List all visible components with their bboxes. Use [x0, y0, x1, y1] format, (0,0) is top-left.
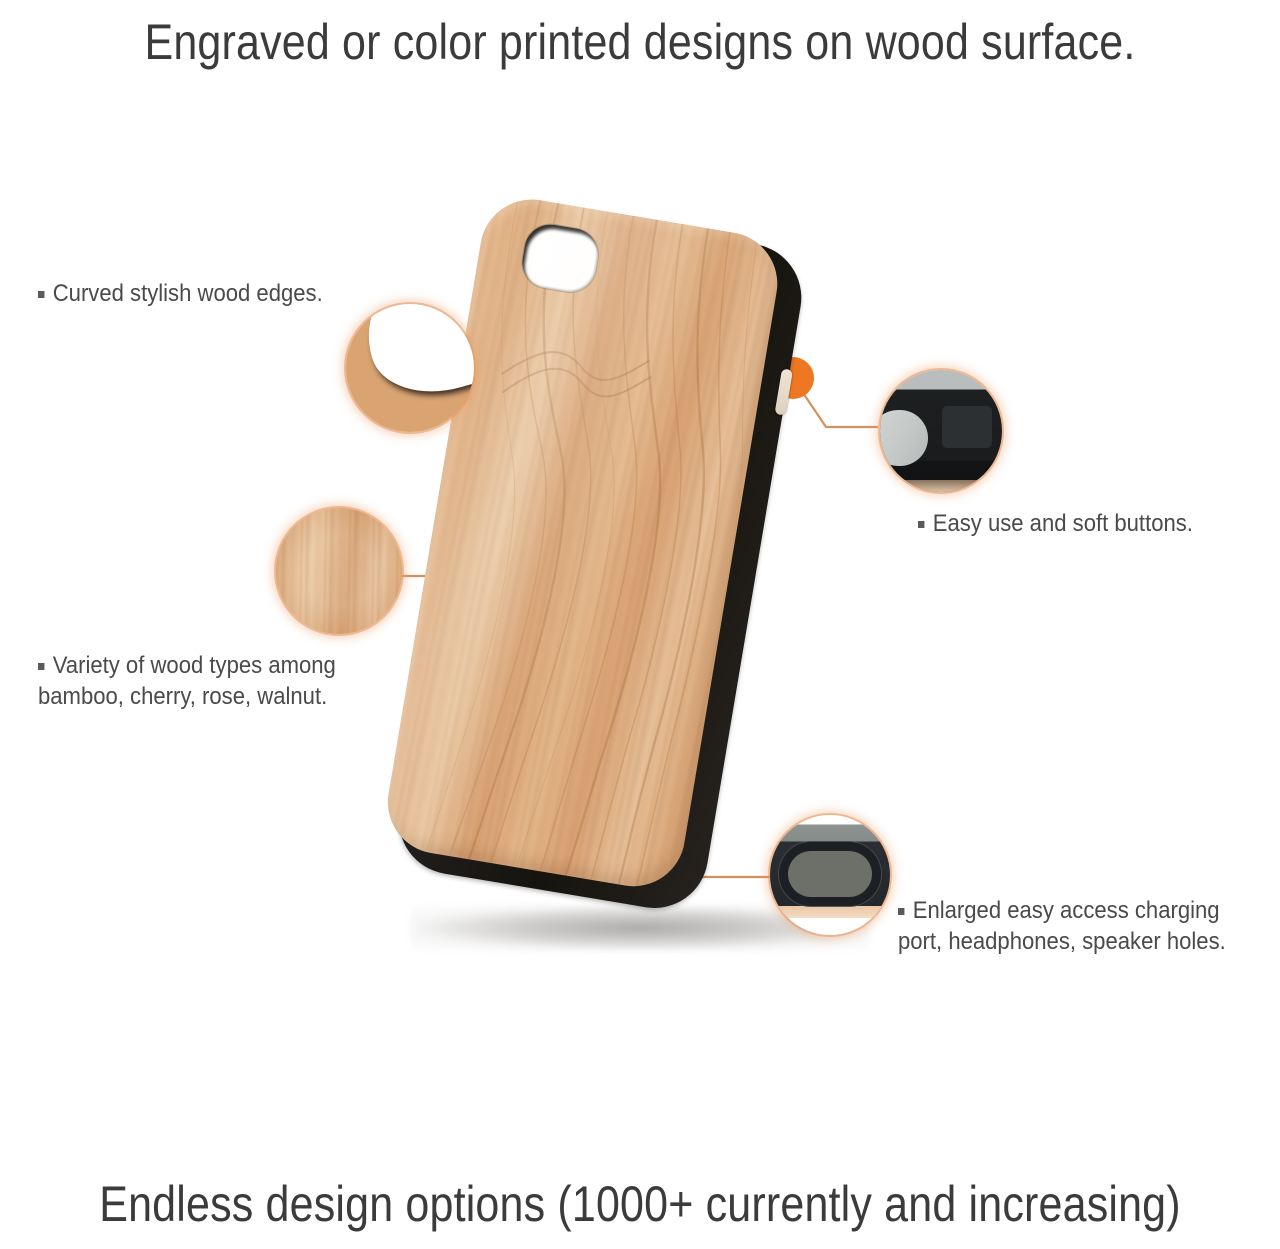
side-button-notch: [775, 368, 793, 415]
callout-label-curved-edges: Curved stylish wood edges.: [38, 278, 323, 309]
charging-port-cutout: [788, 851, 872, 897]
callout-text-line1: Curved stylish wood edges.: [53, 280, 323, 307]
case-wood-face: [380, 192, 785, 894]
callout-text-line2: port, headphones, speaker holes.: [898, 926, 1226, 957]
detail-circle-charging-port: [770, 815, 890, 935]
grain-vignette: [276, 508, 402, 634]
infographic-canvas: Engraved or color printed designs on woo…: [0, 0, 1280, 1249]
callout-text-line1: Variety of wood types among: [53, 652, 336, 679]
bullet-icon: [898, 908, 904, 915]
callout-label-charging-port: Enlarged easy access charging port, head…: [898, 895, 1226, 957]
callout-text-line2: bamboo, cherry, rose, walnut.: [38, 681, 336, 712]
detail-circle-soft-buttons-content: [880, 370, 1002, 492]
page-footer-title: Endless design options (1000+ currently …: [90, 1174, 1191, 1234]
page-title: Engraved or color printed designs on woo…: [90, 12, 1191, 72]
detail-circle-soft-buttons: [880, 370, 1002, 492]
detail-circle-wood-variety: [276, 508, 402, 634]
wood-sliver: [880, 480, 1002, 492]
bullet-icon: [38, 663, 44, 670]
detail-circle-wood-variety-content: [276, 508, 402, 634]
bullet-icon: [38, 291, 44, 298]
bullet-icon: [918, 521, 924, 528]
detail-circle-curved-edges: [346, 304, 474, 432]
case-tilt-group: [375, 192, 824, 929]
detail-circle-curved-edges-content: [346, 304, 474, 432]
wood-grain-lines: [380, 192, 785, 894]
callout-label-soft-buttons: Easy use and soft buttons.: [918, 508, 1193, 539]
detail-circle-charging-port-content: [770, 815, 890, 935]
callout-label-wood-variety: Variety of wood types among bamboo, cher…: [38, 650, 336, 712]
callout-text-line1: Enlarged easy access charging: [913, 897, 1220, 924]
callout-text-line1: Easy use and soft buttons.: [933, 510, 1193, 537]
button-seam: [942, 406, 992, 448]
